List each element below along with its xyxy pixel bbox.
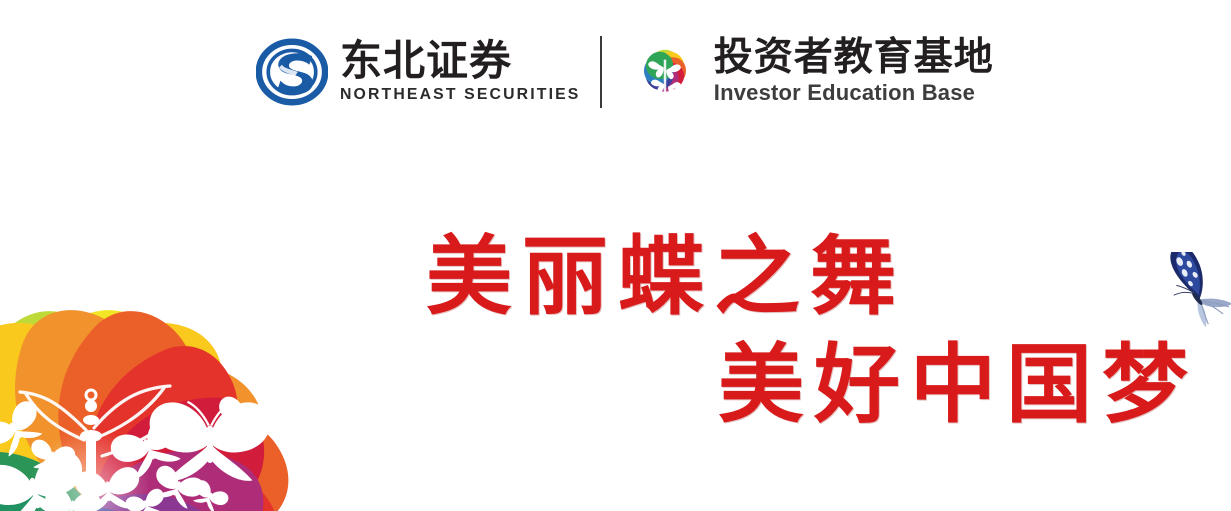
slogan-line-1: 美丽蝶之舞 bbox=[418, 228, 1208, 328]
northeast-securities-name-cn: 东北证券 bbox=[340, 40, 576, 83]
investor-education-base-brand: 投资者教育基地 Investor Education Base bbox=[628, 35, 994, 109]
investor-education-base-flower-mark-icon bbox=[628, 35, 702, 109]
blue-butterfly-illustration-icon bbox=[1168, 252, 1231, 332]
investor-education-base-name-cn: 投资者教育基地 bbox=[714, 38, 994, 79]
northeast-securities-brand: 东北证券 NORTHEAST SECURITIES bbox=[256, 36, 576, 108]
colorful-flower-with-butterflies-illustration-icon bbox=[0, 188, 370, 511]
header-logo-lockup: 东北证券 NORTHEAST SECURITIES bbox=[256, 33, 994, 111]
northeast-securities-wordmark: 东北证券 NORTHEAST SECURITIES bbox=[340, 40, 576, 105]
investor-education-base-wordmark: 投资者教育基地 Investor Education Base bbox=[714, 38, 994, 107]
northeast-securities-name-en: NORTHEAST SECURITIES bbox=[340, 86, 580, 104]
poster-canvas: 东北证券 NORTHEAST SECURITIES bbox=[0, 0, 1231, 511]
investor-education-base-name-en: Investor Education Base bbox=[714, 80, 994, 106]
slogan-line-2: 美好中国梦 bbox=[418, 336, 1208, 436]
vertical-divider-icon bbox=[600, 36, 602, 108]
slogan-block: 美丽蝶之舞 美好中国梦 bbox=[418, 228, 1208, 436]
northeast-securities-circular-mark-icon bbox=[256, 36, 328, 108]
